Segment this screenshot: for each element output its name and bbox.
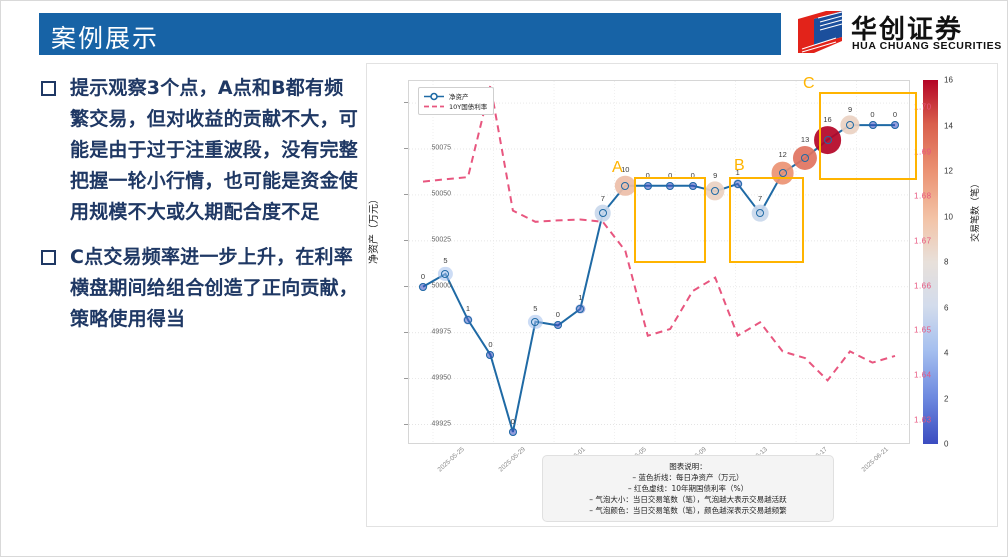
y-axis-tick-mark: [404, 286, 408, 287]
data-point-marker: [531, 318, 539, 326]
page-title: 案例展示: [51, 19, 159, 55]
data-point-marker: [576, 305, 584, 313]
annotation-letter-b: B: [734, 157, 745, 175]
y-axis-tick: 49975: [432, 328, 451, 335]
company-logo: 华创证券 HUA CHUANG SECURITIES: [796, 9, 1001, 57]
bullet-square-icon: [41, 250, 56, 265]
y-axis-tick: 50050: [432, 190, 451, 197]
y-axis-label: 净资产（万元）: [365, 194, 380, 264]
x-axis-tick: 2025-06-21: [860, 446, 889, 473]
y-axis-tick-mark: [404, 378, 408, 379]
right-axis-tick: 1.65: [914, 326, 932, 335]
bullet-text: 提示观察3个点，A点和B都有频繁交易，但对收益的贡献不大，可能是由于过于注重波段…: [70, 73, 361, 228]
plot-area: 净资产 10Y国债利率 05100501710000917121316900 A…: [408, 80, 910, 444]
logo-english-name: HUA CHUANG SECURITIES: [852, 40, 1002, 52]
bullet-list: 提示观察3个点，A点和B都有频繁交易，但对收益的贡献不大，可能是由于过于注重波段…: [41, 73, 361, 349]
y-axis-tick-mark: [404, 240, 408, 241]
note-line: – 气泡大小：当日交易笔数（笔），气泡越大表示交易越活跃: [549, 494, 827, 505]
data-point-marker: [464, 316, 472, 324]
bubble-value-label: 12: [778, 150, 786, 159]
bubble-value-label: 0: [421, 272, 425, 281]
annotation-box-b: [729, 177, 804, 263]
data-point-marker: [509, 428, 517, 436]
colorbar-tick: 12: [944, 167, 953, 176]
chart-legend: 净资产 10Y国债利率: [418, 87, 494, 115]
bullet-text: C点交易频率进一步上升，在利率横盘期间给组合创造了正向贡献，策略使用得当: [70, 242, 361, 335]
bullet-item: 提示观察3个点，A点和B都有频繁交易，但对收益的贡献不大，可能是由于过于注重波段…: [41, 73, 361, 228]
data-point-marker: [554, 321, 562, 329]
data-point-marker: [621, 182, 629, 190]
bubble-value-label: 9: [713, 171, 717, 180]
annotation-box-a: [634, 177, 706, 263]
data-point-marker: [711, 187, 719, 195]
legend-entry-net-asset: 净资产: [423, 91, 487, 101]
right-axis-tick: 1.67: [914, 236, 932, 245]
bubble-value-label: 0: [511, 417, 515, 426]
y-axis-tick: 49950: [432, 374, 451, 381]
bullet-item: C点交易频率进一步上升，在利率横盘期间给组合创造了正向贡献，策略使用得当: [41, 242, 361, 335]
bullet-square-icon: [41, 81, 56, 96]
annotation-letter-c: C: [803, 75, 815, 93]
y-axis-tick: 50000: [432, 282, 451, 289]
x-axis-tick: 2025-05-25: [437, 446, 466, 473]
colorbar: [923, 80, 938, 444]
data-point-marker: [441, 270, 449, 278]
y-axis-tick-mark: [404, 332, 408, 333]
y-axis-tick-mark: [404, 194, 408, 195]
chart-note-box: 图表说明： – 蓝色折线：每日净资产（万元） – 红色虚线：10年期国债利率（%…: [542, 455, 834, 522]
legend-label: 10Y国债利率: [449, 101, 487, 111]
bubble-value-label: 5: [443, 256, 447, 265]
y-axis-tick-mark: [404, 148, 408, 149]
annotation-box-c: [819, 92, 917, 180]
colorbar-tick: 10: [944, 212, 953, 221]
colorbar-tick: 16: [944, 76, 953, 85]
slide-canvas: 案例展示 华创证券 HUA CHUANG SECURITIES 提示观察3个点，…: [0, 0, 1008, 557]
x-axis-tick: 2025-05-29: [497, 446, 526, 473]
title-bar: 案例展示: [39, 13, 781, 55]
note-line: – 红色虚线：10年期国债利率（%）: [549, 483, 827, 494]
chart-card: 净资产（万元） 交易笔数（笔） 净资产 10Y国债利率: [366, 63, 998, 527]
right-axis-tick: 1.63: [914, 415, 932, 424]
y-axis-tick-mark: [404, 424, 408, 425]
y-axis-tick: 50075: [432, 144, 451, 151]
data-point-marker: [419, 283, 427, 291]
legend-label: 净资产: [449, 91, 469, 101]
bubble-value-label: 7: [601, 194, 605, 203]
note-line: – 蓝色折线：每日净资产（万元）: [549, 472, 827, 483]
colorbar-tick: 4: [944, 349, 948, 358]
right-axis-tick: 1.66: [914, 281, 932, 290]
annotation-letter-a: A: [612, 159, 623, 177]
colorbar-label: 交易笔数（笔）: [968, 179, 981, 242]
data-point-marker: [599, 209, 607, 217]
legend-entry-bond-rate: 10Y国债利率: [423, 101, 487, 111]
data-point-marker: [801, 154, 809, 162]
colorbar-tick: 2: [944, 394, 948, 403]
right-axis-tick: 1.68: [914, 192, 932, 201]
colorbar-tick: 0: [944, 440, 948, 449]
y-axis-tick: 50025: [432, 236, 451, 243]
colorbar-tick: 14: [944, 121, 953, 130]
logo-mark-icon: [796, 11, 844, 53]
note-line: 图表说明：: [549, 461, 827, 472]
note-line: – 气泡颜色：当日交易笔数（笔），颜色越深表示交易越频繁: [549, 505, 827, 516]
colorbar-tick: 6: [944, 303, 948, 312]
bubble-value-label: 13: [801, 135, 809, 144]
bubble-value-label: 0: [556, 310, 560, 319]
bubble-value-label: 1: [578, 293, 582, 302]
legend-line-marker-icon: [423, 92, 445, 101]
data-point-marker: [486, 351, 494, 359]
bubble-value-label: 0: [488, 340, 492, 349]
y-axis-tick-mark: [404, 102, 408, 103]
bubble-value-label: 5: [533, 304, 537, 313]
y-axis-tick: 49925: [432, 420, 451, 427]
legend-dashed-line-icon: [423, 102, 445, 111]
colorbar-tick: 8: [944, 258, 948, 267]
bubble-value-label: 1: [466, 304, 470, 313]
right-axis-tick: 1.64: [914, 370, 932, 379]
data-point-marker: [779, 169, 787, 177]
